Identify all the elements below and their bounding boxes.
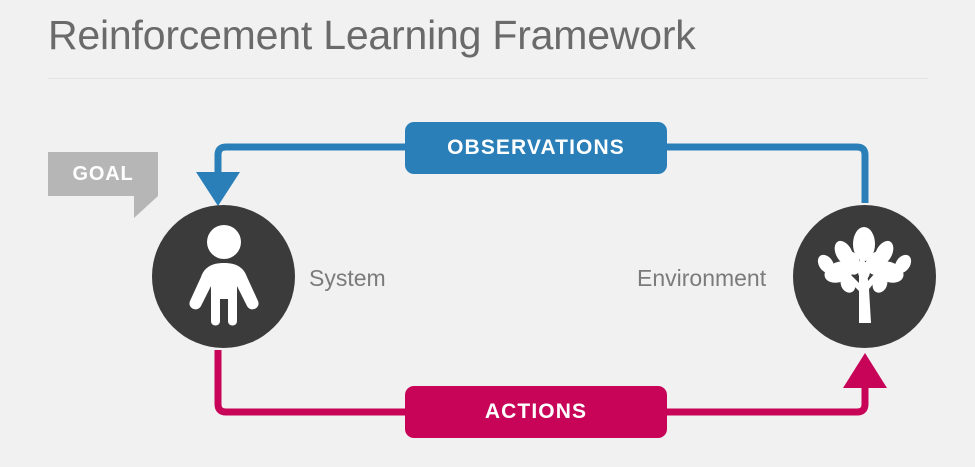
actions-arrowhead	[843, 353, 887, 388]
observations-arrowhead	[196, 172, 240, 206]
goal-callout-tail-icon	[134, 196, 158, 218]
goal-callout: GOAL	[48, 152, 158, 196]
tree-icon	[817, 227, 913, 327]
actions-label: ACTIONS	[485, 400, 587, 424]
goal-label: GOAL	[73, 163, 134, 186]
person-icon	[184, 225, 264, 329]
system-label: System	[309, 265, 386, 292]
diagram-canvas: Reinforcement Learning Framework GOAL OB…	[0, 0, 975, 467]
environment-label: Environment	[637, 265, 766, 292]
observations-badge[interactable]: OBSERVATIONS	[405, 122, 667, 174]
system-node[interactable]	[152, 205, 295, 348]
observations-label: OBSERVATIONS	[447, 136, 625, 160]
environment-node[interactable]	[793, 205, 936, 348]
actions-badge[interactable]: ACTIONS	[405, 386, 667, 438]
